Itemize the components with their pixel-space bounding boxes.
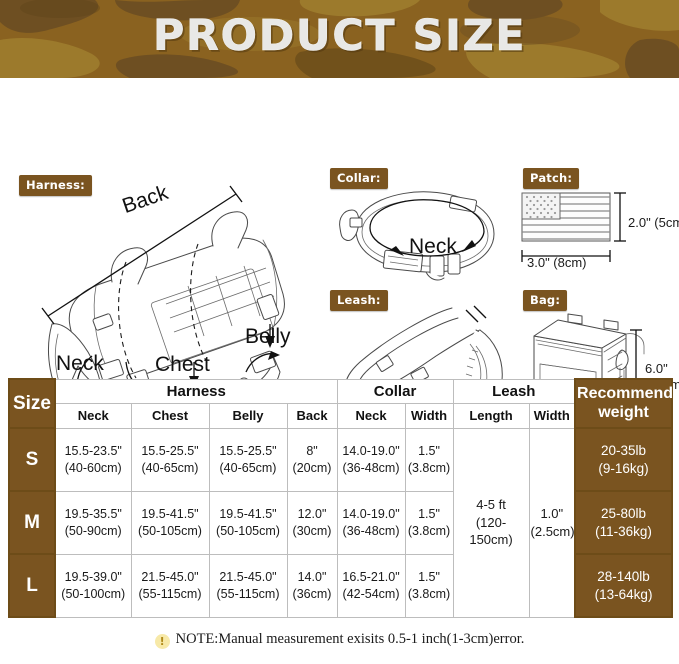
- patch-height-dimension: 2.0" (5cm): [628, 215, 679, 230]
- table-subheader-leash-length: Length: [453, 403, 529, 428]
- cell-line1: 15.5-25.5": [133, 443, 208, 460]
- cell-line1: 15.5-25.5": [211, 443, 286, 460]
- cell-m-harness-back: 12.0" (30cm): [287, 491, 337, 554]
- cell-line1: 21.5-45.0": [211, 569, 286, 586]
- cell-l-collar-neck: 16.5-21.0" (42-54cm): [337, 554, 405, 617]
- cell-line1: 21.5-45.0": [133, 569, 208, 586]
- cell-l-collar-width: 1.5" (3.8cm): [405, 554, 453, 617]
- patch-badge: Patch:: [523, 168, 579, 189]
- cell-line2: (3.8cm): [407, 586, 452, 603]
- bag-height-line1: 6.0": [645, 361, 679, 377]
- cell-leash-length-merged: 4-5 ft (120-150cm): [453, 428, 529, 617]
- cell-line2: (50-105cm): [133, 523, 208, 540]
- cell-leash-width-merged: 1.0" (2.5cm): [529, 428, 575, 617]
- cell-line1: 16.5-21.0": [339, 569, 404, 586]
- weight-line2: (9-16kg): [577, 460, 670, 478]
- note-row: !NOTE:Manual measurement exisits 0.5-1 i…: [0, 618, 679, 649]
- weight-line1: 28-140lb: [577, 568, 670, 586]
- cell-line2: (3.8cm): [407, 460, 452, 477]
- table-subheader-harness-chest: Chest: [131, 403, 209, 428]
- table-subheader-collar-neck: Neck: [337, 403, 405, 428]
- table-subheader-collar-width: Width: [405, 403, 453, 428]
- weight-line1: 20-35lb: [577, 442, 670, 460]
- cell-s-harness-chest: 15.5-25.5" (40-65cm): [131, 428, 209, 491]
- cell-m-collar-width: 1.5" (3.8cm): [405, 491, 453, 554]
- cell-s-collar-width: 1.5" (3.8cm): [405, 428, 453, 491]
- cell-line1: 8": [289, 443, 336, 460]
- page-header: PRODUCT SIZE: [0, 0, 679, 78]
- row-size-m: M: [9, 491, 55, 554]
- cell-line2: (50-90cm): [57, 523, 130, 540]
- cell-m-recommended-weight: 25-80lb (11-36kg): [575, 491, 672, 554]
- harness-chest-label: Chest: [155, 353, 210, 377]
- cell-s-harness-back: 8" (20cm): [287, 428, 337, 491]
- table-group-harness: Harness: [55, 379, 337, 403]
- cell-line2: (36-48cm): [339, 460, 404, 477]
- cell-line2: (40-65cm): [133, 460, 208, 477]
- cell-m-harness-chest: 19.5-41.5" (50-105cm): [131, 491, 209, 554]
- cell-l-harness-belly: 21.5-45.0" (55-115cm): [209, 554, 287, 617]
- table-header-size: Size: [9, 379, 55, 428]
- cell-s-harness-neck: 15.5-23.5" (40-60cm): [55, 428, 131, 491]
- harness-belly-label: Belly: [245, 325, 291, 349]
- cell-line2: (30cm): [289, 523, 336, 540]
- table-subheader-harness-back: Back: [287, 403, 337, 428]
- table-header-recommended-weight: Recommended weight: [575, 379, 672, 428]
- table-subheader-harness-neck: Neck: [55, 403, 131, 428]
- patch-width-dimension: 3.0" (8cm): [527, 255, 587, 270]
- cell-line1: 15.5-23.5": [57, 443, 130, 460]
- cell-l-harness-neck: 19.5-39.0" (50-100cm): [55, 554, 131, 617]
- cell-l-harness-back: 14.0" (36cm): [287, 554, 337, 617]
- cell-line1: 19.5-41.5": [133, 506, 208, 523]
- cell-line2: (50-105cm): [211, 523, 286, 540]
- cell-line2: (50-100cm): [57, 586, 130, 603]
- cell-line2: (55-115cm): [133, 586, 208, 603]
- cell-line1: 1.5": [407, 506, 452, 523]
- cell-line1: 19.5-35.5": [57, 506, 130, 523]
- table-subheader-harness-belly: Belly: [209, 403, 287, 428]
- table-group-collar: Collar: [337, 379, 453, 403]
- cell-line2: (55-115cm): [211, 586, 286, 603]
- weight-line2: (13-64kg): [577, 586, 670, 604]
- leash-length-line2: (120-150cm): [455, 514, 528, 549]
- note-text: NOTE:Manual measurement exisits 0.5-1 in…: [176, 631, 525, 647]
- size-table-container: Size Harness Collar Leash Recommended we…: [0, 378, 679, 618]
- warning-icon: !: [155, 634, 170, 649]
- cell-s-collar-neck: 14.0-19.0" (36-48cm): [337, 428, 405, 491]
- row-size-l: L: [9, 554, 55, 617]
- size-table: Size Harness Collar Leash Recommended we…: [8, 378, 673, 618]
- cell-line1: 19.5-41.5": [211, 506, 286, 523]
- cell-l-recommended-weight: 28-140lb (13-64kg): [575, 554, 672, 617]
- page-title: PRODUCT SIZE: [0, 11, 679, 61]
- cell-line1: 19.5-39.0": [57, 569, 130, 586]
- cell-m-harness-belly: 19.5-41.5" (50-105cm): [209, 491, 287, 554]
- table-group-header-row: Size Harness Collar Leash Recommended we…: [9, 379, 672, 403]
- cell-line2: (3.8cm): [407, 523, 452, 540]
- table-group-leash: Leash: [453, 379, 575, 403]
- cell-line1: 14.0-19.0": [339, 443, 404, 460]
- cell-line1: 14.0": [289, 569, 336, 586]
- collar-neck-label: Neck: [409, 235, 457, 259]
- table-subheader-row: Neck Chest Belly Back Neck Width Length …: [9, 403, 672, 428]
- harness-neck-label: Neck: [56, 352, 104, 376]
- leash-width-line2: (2.5cm): [531, 523, 574, 541]
- recommended-weight-line1: Recommended: [577, 385, 670, 403]
- cell-m-harness-neck: 19.5-35.5" (50-90cm): [55, 491, 131, 554]
- row-size-s: S: [9, 428, 55, 491]
- leash-width-line1: 1.0": [531, 505, 574, 523]
- cell-line2: (40-65cm): [211, 460, 286, 477]
- us-flag-patch-icon: [522, 193, 610, 241]
- table-row: S 15.5-23.5" (40-60cm) 15.5-25.5" (40-65…: [9, 428, 672, 491]
- weight-line2: (11-36kg): [577, 523, 670, 541]
- cell-line2: (36cm): [289, 586, 336, 603]
- cell-s-recommended-weight: 20-35lb (9-16kg): [575, 428, 672, 491]
- cell-line2: (20cm): [289, 460, 336, 477]
- cell-line1: 1.5": [407, 443, 452, 460]
- cell-line2: (42-54cm): [339, 586, 404, 603]
- diagram-area: Harness:: [0, 78, 679, 378]
- cell-l-harness-chest: 21.5-45.0" (55-115cm): [131, 554, 209, 617]
- recommended-weight-line2: weight: [577, 404, 670, 422]
- cell-line1: 14.0-19.0": [339, 506, 404, 523]
- cell-line2: (36-48cm): [339, 523, 404, 540]
- cell-m-collar-neck: 14.0-19.0" (36-48cm): [337, 491, 405, 554]
- cell-s-harness-belly: 15.5-25.5" (40-65cm): [209, 428, 287, 491]
- cell-line1: 12.0": [289, 506, 336, 523]
- weight-line1: 25-80lb: [577, 505, 670, 523]
- cell-line1: 1.5": [407, 569, 452, 586]
- cell-line2: (40-60cm): [57, 460, 130, 477]
- table-subheader-leash-width: Width: [529, 403, 575, 428]
- leash-length-line1: 4-5 ft: [455, 496, 528, 514]
